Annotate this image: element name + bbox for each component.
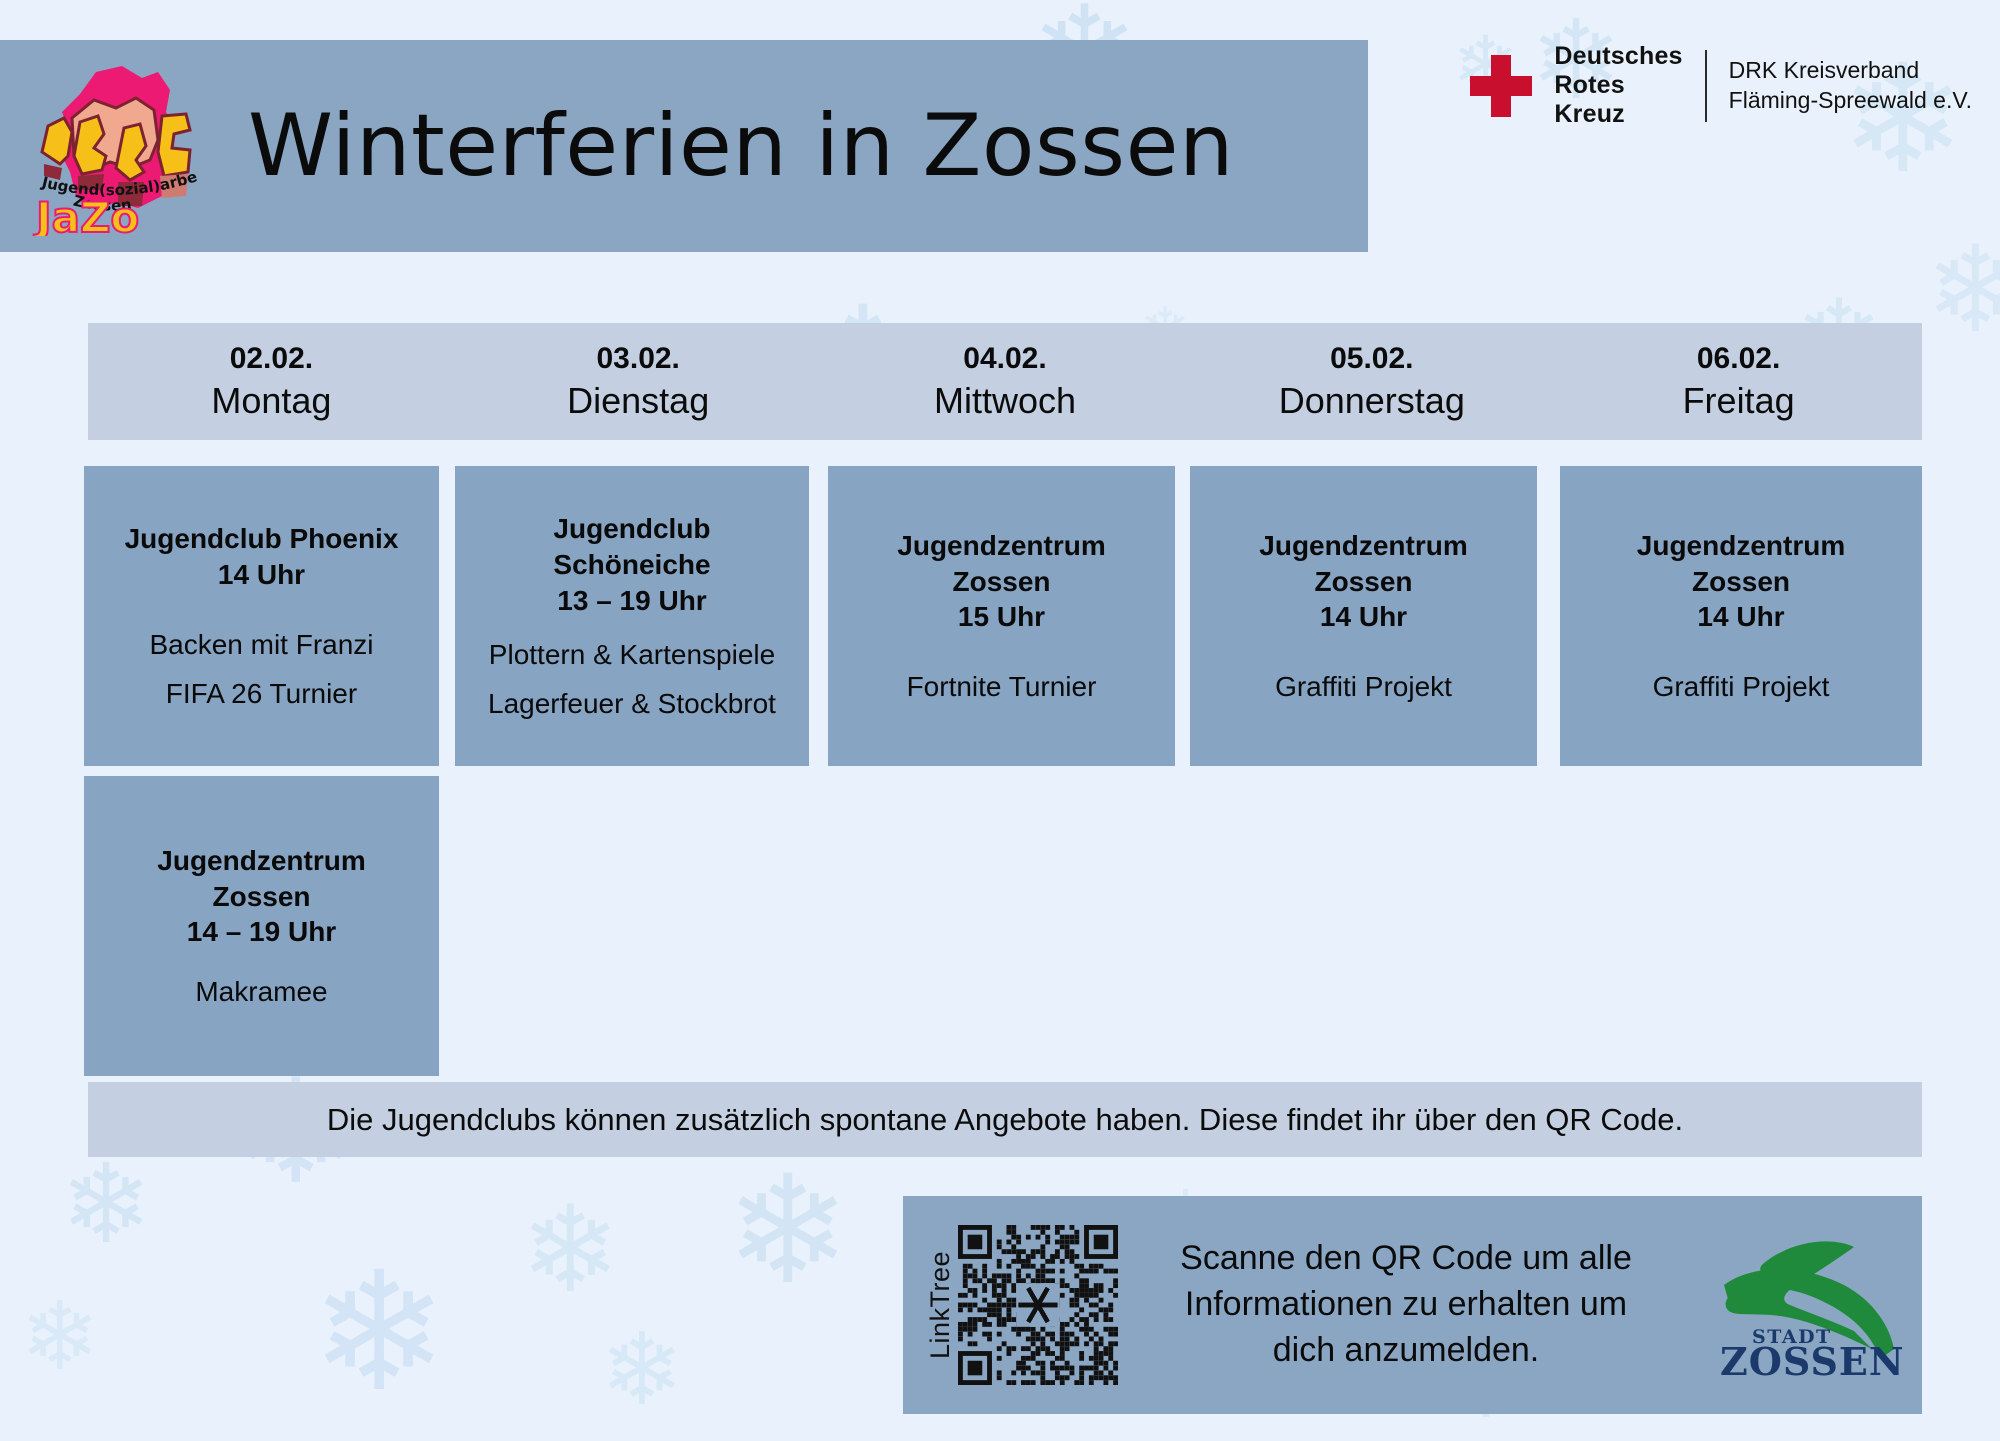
event-card-montag-1[interactable]: Jugendclub Phoenix 14 Uhr Backen mit Fra…	[84, 466, 439, 766]
event-card-title-line: Jugendzentrum	[157, 843, 365, 879]
drk-name-line-1: Deutsches	[1554, 42, 1682, 71]
event-card-title-line: Jugendclub Phoenix	[125, 521, 399, 557]
event-card-title-line: 13 – 19 Uhr	[553, 583, 710, 619]
event-card-title-line: Zossen	[157, 879, 365, 915]
day-name: Mittwoch	[934, 380, 1076, 422]
jazo-logo: Jugend(sozial)arbeit Zossen JaZo	[18, 56, 214, 236]
day-date: 05.02.	[1330, 342, 1413, 376]
footer-instruction-text: Scanne den QR Code um alle Informationen…	[1118, 1236, 1694, 1374]
qr-code-icon[interactable]	[958, 1225, 1118, 1385]
event-card-title-line: 14 Uhr	[125, 557, 399, 593]
event-card-title: Jugendzentrum Zossen 14 Uhr	[1637, 528, 1845, 635]
event-card-activities: Backen mit Franzi FIFA 26 Turnier	[149, 627, 373, 711]
event-card-title-line: Zossen	[1259, 564, 1467, 600]
event-card-title-line: 14 – 19 Uhr	[157, 914, 365, 950]
event-card-montag-2[interactable]: Jugendzentrum Zossen 14 – 19 Uhr Makrame…	[84, 776, 439, 1076]
event-card-title: Jugendzentrum Zossen 14 – 19 Uhr	[157, 843, 365, 950]
event-card-mittwoch[interactable]: Jugendzentrum Zossen 15 Uhr Fortnite Tur…	[828, 466, 1175, 766]
footer-text-line-1: Scanne den QR Code um alle	[1124, 1236, 1688, 1282]
event-card-title-line: Zossen	[1637, 564, 1845, 600]
stadt-zossen-logo: STADT ZOSSEN	[1694, 1223, 1904, 1388]
footer-text-line-3: dich anzumelden.	[1124, 1328, 1688, 1374]
event-card-dienstag[interactable]: Jugendclub Schöneiche 13 – 19 Uhr Plotte…	[455, 466, 809, 766]
day-header-mittwoch: 04.02. Mittwoch	[822, 323, 1189, 440]
jazo-wordmark: JaZo	[33, 193, 139, 236]
event-activity: Makramee	[195, 974, 327, 1009]
event-card-title-line: 14 Uhr	[1637, 599, 1845, 635]
red-cross-icon	[1470, 55, 1532, 117]
event-card-title-line: Zossen	[897, 564, 1105, 600]
footer-panel: LinkTree Scanne den QR Code um alle Info…	[903, 1196, 1922, 1414]
event-card-title-line: 14 Uhr	[1259, 599, 1467, 635]
drk-logo-block: Deutsches Rotes Kreuz DRK Kreisverband F…	[1470, 42, 1972, 129]
zossen-logo-zossen: ZOSSEN	[1720, 1339, 1904, 1384]
event-activity: Fortnite Turnier	[907, 669, 1097, 704]
event-card-title-line: Jugendzentrum	[1637, 528, 1845, 564]
day-header-montag: 02.02. Montag	[88, 323, 455, 440]
event-card-activities: Graffiti Projekt	[1653, 669, 1830, 704]
event-card-activities: Plottern & Kartenspiele Lagerfeuer & Sto…	[488, 637, 776, 721]
qr-block[interactable]: LinkTree	[925, 1225, 1118, 1385]
event-card-title-line: 15 Uhr	[897, 599, 1105, 635]
snowflake-icon: ❄	[310, 1250, 448, 1415]
day-name: Montag	[211, 380, 331, 422]
event-card-activities: Graffiti Projekt	[1275, 669, 1452, 704]
snowflake-icon: ❄	[1925, 230, 2000, 350]
event-activity: Plottern & Kartenspiele	[488, 637, 776, 672]
day-name: Freitag	[1683, 380, 1795, 422]
drk-name-line-2: Rotes	[1554, 71, 1682, 100]
day-date: 04.02.	[963, 342, 1046, 376]
event-card-freitag[interactable]: Jugendzentrum Zossen 14 Uhr Graffiti Pro…	[1560, 466, 1922, 766]
drk-subtitle-line-1: DRK Kreisverband	[1729, 56, 1972, 85]
qr-label: LinkTree	[925, 1251, 956, 1359]
day-date: 06.02.	[1697, 342, 1780, 376]
event-activity: Backen mit Franzi	[149, 627, 373, 662]
event-card-activities: Fortnite Turnier	[907, 669, 1097, 704]
event-card-title: Jugendzentrum Zossen 14 Uhr	[1259, 528, 1467, 635]
event-activity: Lagerfeuer & Stockbrot	[488, 686, 776, 721]
drk-name-line-3: Kreuz	[1554, 100, 1682, 129]
poster-header-band: Jugend(sozial)arbeit Zossen JaZo Winterf…	[0, 40, 1368, 252]
event-activity: FIFA 26 Turnier	[149, 676, 373, 711]
snowflake-icon: ❄	[520, 1190, 621, 1310]
event-card-donnerstag[interactable]: Jugendzentrum Zossen 14 Uhr Graffiti Pro…	[1190, 466, 1537, 766]
event-card-title-line: Jugendzentrum	[1259, 528, 1467, 564]
event-card-title: Jugendclub Schöneiche 13 – 19 Uhr	[553, 511, 710, 618]
event-card-title-line: Jugendzentrum	[897, 528, 1105, 564]
day-date: 02.02.	[230, 342, 313, 376]
footer-text-line-2: Informationen zu erhalten um	[1124, 1282, 1688, 1328]
snowflake-icon: ❄	[725, 1155, 851, 1305]
event-card-title: Jugendzentrum Zossen 15 Uhr	[897, 528, 1105, 635]
event-card-title: Jugendclub Phoenix 14 Uhr	[125, 521, 399, 593]
event-activity: Graffiti Projekt	[1275, 669, 1452, 704]
notice-text: Die Jugendclubs können zusätzlich sponta…	[327, 1102, 1683, 1138]
drk-subtitle-line-2: Fläming-Spreewald e.V.	[1729, 86, 1972, 115]
event-card-title-line: Jugendclub	[553, 511, 710, 547]
day-name: Donnerstag	[1279, 380, 1465, 422]
drk-name: Deutsches Rotes Kreuz	[1554, 42, 1682, 129]
day-header-dienstag: 03.02. Dienstag	[455, 323, 822, 440]
drk-subtitle: DRK Kreisverband Fläming-Spreewald e.V.	[1729, 56, 1972, 115]
snowflake-icon: ❄	[20, 1290, 100, 1385]
snowflake-icon: ❄	[60, 1150, 152, 1260]
week-day-header-strip: 02.02. Montag 03.02. Dienstag 04.02. Mit…	[88, 323, 1922, 440]
event-activity: Graffiti Projekt	[1653, 669, 1830, 704]
day-header-donnerstag: 05.02. Donnerstag	[1188, 323, 1555, 440]
event-card-activities: Makramee	[195, 974, 327, 1009]
notice-bar: Die Jugendclubs können zusätzlich sponta…	[88, 1082, 1922, 1157]
snowflake-icon: ❄	[600, 1320, 684, 1420]
day-date: 03.02.	[596, 342, 679, 376]
day-header-freitag: 06.02. Freitag	[1555, 323, 1922, 440]
page-title: Winterferien in Zossen	[248, 96, 1234, 196]
day-name: Dienstag	[567, 380, 709, 422]
drk-divider	[1705, 50, 1707, 122]
event-card-title-line: Schöneiche	[553, 547, 710, 583]
